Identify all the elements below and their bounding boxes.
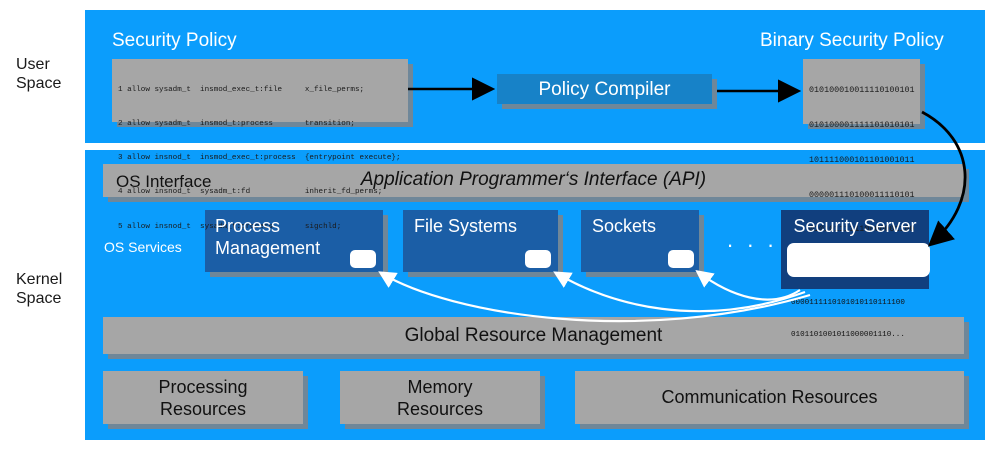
binary-line-3: 101111000101101001011 [809,155,915,167]
label-kernel-space-line1: Kernel [16,270,62,289]
global-resource-management-label: Global Resource Management [103,325,964,347]
security-hook-sockets [668,250,694,268]
security-server-label: Security Server [781,215,929,237]
resource-label-line2: Resources [103,398,303,420]
resource-label-line1: Communication Resources [575,386,964,408]
resource-label-line1: Processing [103,376,303,398]
code-line-1: 1 allow sysadm_t insmod_exec_t:file x_fi… [118,85,410,96]
label-user-space-line1: User [16,55,61,74]
label-user-space-line2: Space [16,74,61,93]
os-service-label-sockets: Sockets [592,215,697,237]
ss-binary-line-2: 0000111110101010110111100 [791,298,909,309]
code-line-2: 2 allow sysadm_t insmod_t:process transi… [118,119,410,130]
security-hook-file-systems [525,250,551,268]
policy-compiler-label: Policy Compiler [497,79,712,101]
security-server-policy-store [787,243,930,277]
os-services-label: OS Services [104,239,182,255]
security-hook-process-management [350,250,376,268]
binary-security-policy-title: Binary Security Policy [760,30,944,52]
service-label-line1: Sockets [592,215,697,237]
resource-label-processing: Processing Resources [103,376,303,420]
service-label-line1: File Systems [414,215,554,237]
resource-label-memory: Memory Resources [340,376,540,420]
api-label: Application Programmer‘s Interface (API) [103,169,964,191]
os-service-label-file-systems: File Systems [414,215,554,237]
label-kernel-space-line2: Space [16,289,62,308]
security-policy-title: Security Policy [112,30,237,52]
diagram-canvas: User Space Kernel Space Security Policy … [0,0,1002,450]
resource-label-line2: Resources [340,398,540,420]
resource-label-line1: Memory [340,376,540,398]
resource-label-communication: Communication Resources [575,386,964,408]
binary-line-2: 010100001111101010101 [809,120,915,132]
binary-line-1: 010100010011110100101 [809,85,915,97]
label-kernel-space: Kernel Space [16,270,62,308]
service-label-line1: Process [215,215,375,237]
os-services-ellipsis: . . . [727,227,778,253]
label-user-space: User Space [16,55,61,93]
code-line-3: 3 allow insnod_t insmod_exec_t:process {… [118,153,410,164]
binary-line-4: 000001110100011110101 [809,190,915,202]
